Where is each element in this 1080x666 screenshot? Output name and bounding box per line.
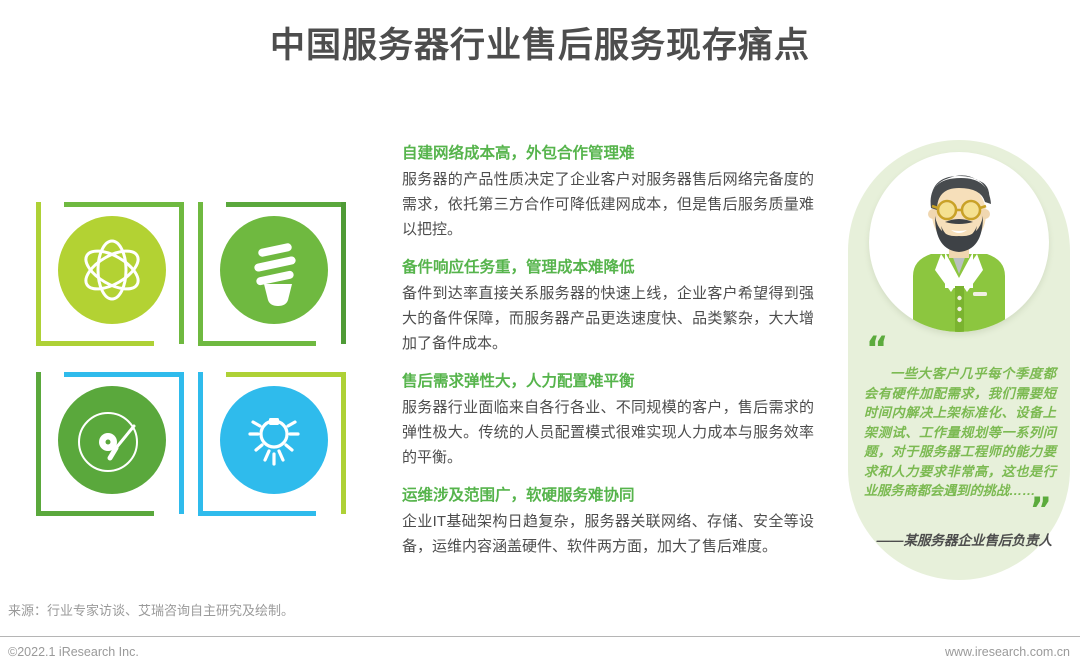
pain-point-heading: 运维涉及范围广，软硬服务难协同: [402, 484, 814, 507]
quote-attribution: ——某服务器企业售后负责人: [862, 529, 1058, 549]
bracket-top: [226, 202, 346, 207]
bracket-right: [179, 202, 184, 344]
bracket-left: [36, 202, 41, 344]
pain-point-body: 服务器的产品性质决定了企业客户对服务器售后网络完备度的需求，依托第三方合作可降低…: [402, 167, 814, 242]
avatar: [869, 152, 1049, 332]
bracket-left: [198, 202, 203, 344]
pain-point-item: 运维涉及范围广，软硬服务难协同 企业IT基础架构日趋复杂，服务器关联网络、存储、…: [402, 484, 814, 559]
icon-cell-vinyl-record: [36, 368, 184, 516]
pain-point-heading: 售后需求弹性大，人力配置难平衡: [402, 370, 814, 393]
icon-cell-atom: [36, 198, 184, 346]
pain-point-item: 自建网络成本高，外包合作管理难 服务器的产品性质决定了企业客户对服务器售后网络完…: [402, 142, 814, 242]
bracket-bottom: [198, 511, 316, 516]
pain-point-heading: 自建网络成本高，外包合作管理难: [402, 142, 814, 165]
bracket-left: [198, 372, 203, 514]
atom-icon: [58, 216, 166, 324]
copyright-text: ©2022.1 iResearch Inc.: [8, 645, 139, 659]
vinyl-record-icon: [58, 386, 166, 494]
source-note: 来源：行业专家访谈、艾瑞咨询自主研究及绘制。: [8, 600, 294, 619]
bracket-bottom: [36, 511, 154, 516]
pain-point-item: 售后需求弹性大，人力配置难平衡 服务器行业面临来自各行各业、不同规模的客户，售后…: [402, 370, 814, 470]
icon-cell-cfl-bulb: [198, 198, 346, 346]
bracket-right: [341, 202, 346, 344]
bracket-top: [226, 372, 346, 377]
pain-point-body: 服务器行业面临来自各行各业、不同规模的客户，售后需求的弹性极大。传统的人员配置模…: [402, 395, 814, 470]
icon-grid: [36, 198, 336, 518]
quote-panel: “ 一些大客户几乎每个季度都会有硬件加配需求，我们需要短时间内解决上架标准化、设…: [848, 140, 1070, 580]
bracket-top: [64, 202, 184, 207]
quote-block: “ 一些大客户几乎每个季度都会有硬件加配需求，我们需要短时间内解决上架标准化、设…: [862, 340, 1058, 549]
bracket-right: [179, 372, 184, 514]
bracket-bottom: [198, 341, 316, 346]
bracket-left: [36, 372, 41, 514]
footer-divider: [0, 636, 1080, 637]
page-title: 中国服务器行业售后服务现存痛点: [0, 22, 1080, 70]
bracket-right: [341, 372, 346, 514]
pain-point-body: 企业IT基础架构日趋复杂，服务器关联网络、存储、安全等设备，运维内容涵盖硬件、软…: [402, 509, 814, 559]
pain-point-heading: 备件响应任务重，管理成本难降低: [402, 256, 814, 279]
website-link[interactable]: www.iresearch.com.cn: [945, 645, 1070, 659]
cfl-bulb-icon: [220, 216, 328, 324]
pain-point-body: 备件到达率直接关系服务器的快速上线，企业客户希望得到强大的备件保障，而服务器产品…: [402, 281, 814, 356]
pain-points-list: 自建网络成本高，外包合作管理难 服务器的产品性质决定了企业客户对服务器售后网络完…: [402, 142, 814, 559]
icon-cell-shining-bulb: [198, 368, 346, 516]
bracket-bottom: [36, 341, 154, 346]
quote-text: 一些大客户几乎每个季度都会有硬件加配需求，我们需要短时间内解决上架标准化、设备上…: [864, 364, 1056, 501]
quote-close-mark: ”: [862, 501, 1052, 527]
shining-bulb-icon: [220, 386, 328, 494]
bracket-top: [64, 372, 184, 377]
quote-open-mark: “: [866, 340, 1058, 364]
pain-point-item: 备件响应任务重，管理成本难降低 备件到达率直接关系服务器的快速上线，企业客户希望…: [402, 256, 814, 356]
